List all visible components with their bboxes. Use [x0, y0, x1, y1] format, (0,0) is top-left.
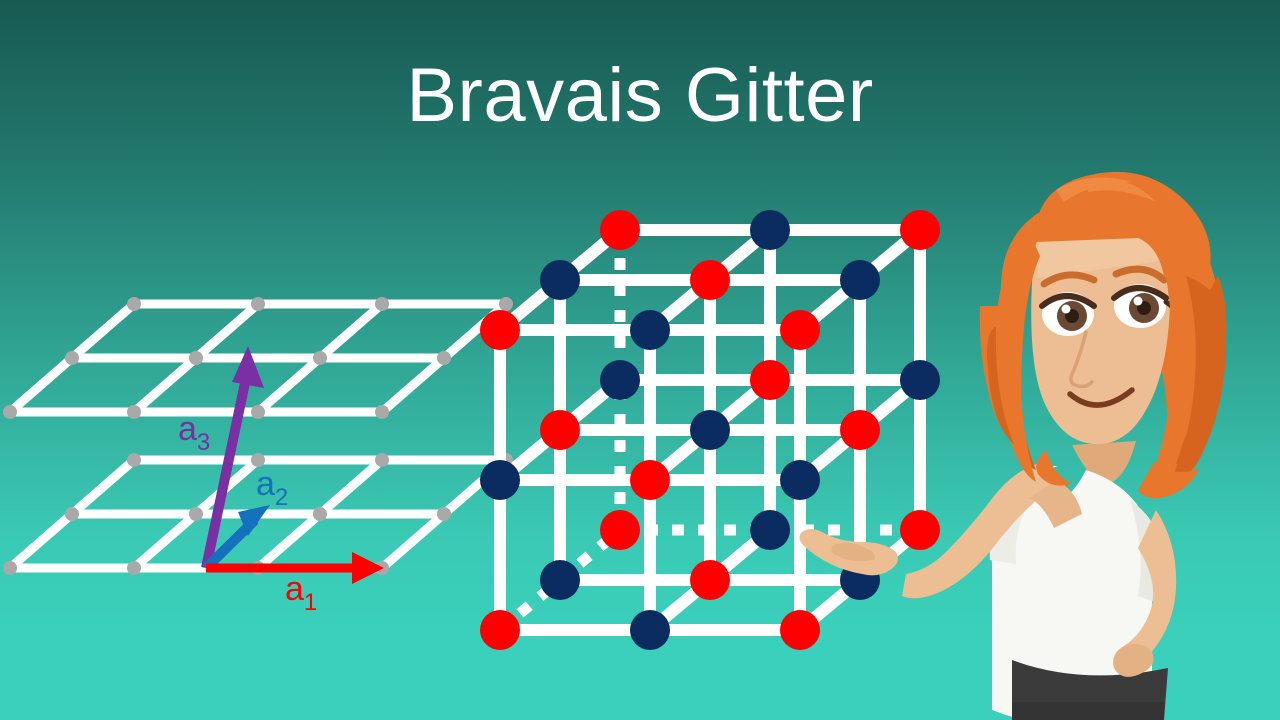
cubic-crystal-lattice	[480, 200, 1000, 670]
vector-label-a1: a1	[285, 570, 317, 616]
vector-label-a3: a3	[178, 410, 210, 456]
vector-labels: a3 a2 a1	[0, 0, 520, 720]
vector-label-a2: a2	[256, 465, 288, 511]
presenter-character	[940, 150, 1280, 720]
slide-canvas: Bravais Gitter	[0, 0, 1280, 720]
